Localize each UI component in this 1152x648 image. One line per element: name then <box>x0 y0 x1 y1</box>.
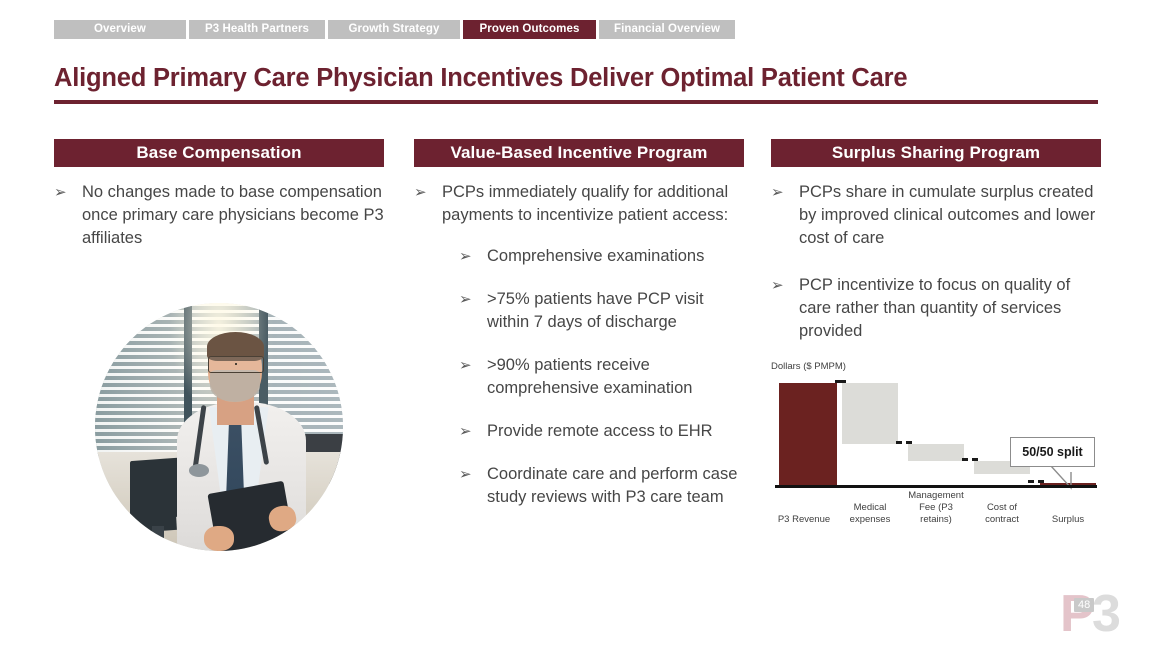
nav-tab-financial-overview[interactable]: Financial Overview <box>599 20 735 39</box>
chart-annotation-5050-split: 50/50 split <box>1010 437 1095 467</box>
list-item: ➢ No changes made to base compensation o… <box>54 181 384 250</box>
panel-header-base-compensation: Base Compensation <box>54 139 384 167</box>
panel-header-value-based-incentive-program: Value-Based Incentive Program <box>414 139 744 167</box>
bullet-text: Coordinate care and perform case study r… <box>487 463 744 509</box>
bullet-list-surplus: ➢ PCPs share in cumulate surplus created… <box>771 181 1101 343</box>
chart-x-tick-label: P3 Revenue <box>771 514 837 526</box>
chart-x-tick-label: Medical expenses <box>837 502 903 526</box>
panel-value-based-incentive-program: Value-Based Incentive Program ➢ PCPs imm… <box>414 139 744 529</box>
chart-connector-line <box>835 380 846 383</box>
list-item: ➢ >90% patients receive comprehensive ex… <box>459 354 744 400</box>
chart-bar-medical-expenses <box>842 383 898 444</box>
bullet-arrow-icon: ➢ <box>414 181 442 227</box>
chart-x-tick-label: Cost of contract <box>969 502 1035 526</box>
p3-logo: P 3 48 <box>1060 590 1136 638</box>
chart-bar-management-fee <box>908 444 964 461</box>
chart-y-axis-label: Dollars ($ PMPM) <box>771 361 1101 372</box>
bullet-text: PCP incentivize to focus on quality of c… <box>799 274 1101 343</box>
bullet-arrow-icon: ➢ <box>459 420 487 443</box>
nav-tab-overview[interactable]: Overview <box>54 20 186 39</box>
list-item: ➢ Comprehensive examinations <box>459 245 744 268</box>
page-number: 48 <box>1074 598 1094 612</box>
list-item: ➢ PCP incentivize to focus on quality of… <box>771 274 1101 343</box>
sub-bullet-list-vbip: ➢ Comprehensive examinations ➢ >75% pati… <box>459 245 744 509</box>
logo-numeral-3: 3 <box>1092 590 1121 638</box>
chart-x-tick-label: Management Fee (P3 retains) <box>903 490 969 526</box>
chart-plot-area: 50/50 split P3 Revenue Medical expenses … <box>771 378 1101 526</box>
chart-bar-p3-revenue <box>779 383 837 488</box>
stethoscope-bell <box>189 464 209 476</box>
chart-connector-line <box>896 441 912 444</box>
page-title: Aligned Primary Care Physician Incentive… <box>54 64 907 93</box>
bullet-arrow-icon: ➢ <box>459 288 487 334</box>
panel-surplus-sharing-program: Surplus Sharing Program ➢ PCPs share in … <box>771 139 1101 357</box>
bullet-text: No changes made to base compensation onc… <box>82 181 384 250</box>
title-underline-rule <box>54 100 1098 104</box>
photo-content <box>95 303 343 551</box>
bullet-text: >90% patients receive comprehensive exam… <box>487 354 744 400</box>
list-item: ➢ Coordinate care and perform case study… <box>459 463 744 509</box>
doctor-beard <box>210 370 260 402</box>
panel-base-compensation: Base Compensation ➢ No changes made to b… <box>54 139 384 264</box>
list-item: ➢ PCPs share in cumulate surplus created… <box>771 181 1101 250</box>
nav-tab-growth-strategy[interactable]: Growth Strategy <box>328 20 460 39</box>
panel-header-surplus-sharing-program: Surplus Sharing Program <box>771 139 1101 167</box>
bullet-arrow-icon: ➢ <box>459 463 487 509</box>
nav-tab-proven-outcomes[interactable]: Proven Outcomes <box>463 20 596 39</box>
list-item: ➢ Provide remote access to EHR <box>459 420 744 443</box>
bullet-text: >75% patients have PCP visit within 7 da… <box>487 288 744 334</box>
list-item: ➢ >75% patients have PCP visit within 7 … <box>459 288 744 334</box>
bullet-text: Provide remote access to EHR <box>487 420 744 443</box>
bullet-text: PCPs immediately qualify for additional … <box>442 181 744 227</box>
doctor-photo <box>95 303 343 551</box>
monitor-stand <box>152 526 164 543</box>
section-nav-tabs: Overview P3 Health Partners Growth Strat… <box>54 20 735 39</box>
bullet-arrow-icon: ➢ <box>54 181 82 250</box>
chart-connector-line <box>962 458 978 461</box>
bullet-text: PCPs share in cumulate surplus created b… <box>799 181 1101 250</box>
list-item: ➢ PCPs immediately qualify for additiona… <box>414 181 744 227</box>
bullet-list-vbip: ➢ PCPs immediately qualify for additiona… <box>414 181 744 227</box>
bullet-arrow-icon: ➢ <box>459 354 487 400</box>
chart-baseline-axis <box>775 485 1097 488</box>
nav-tab-p3-health-partners[interactable]: P3 Health Partners <box>189 20 325 39</box>
bullet-arrow-icon: ➢ <box>459 245 487 268</box>
bullet-text: Comprehensive examinations <box>487 245 744 268</box>
eyeglasses-icon <box>208 356 265 373</box>
bullet-arrow-icon: ➢ <box>771 274 799 343</box>
chart-connector-line <box>1028 480 1044 483</box>
bullet-list-base-compensation: ➢ No changes made to base compensation o… <box>54 181 384 250</box>
bullet-arrow-icon: ➢ <box>771 181 799 250</box>
waterfall-chart: Dollars ($ PMPM) 50/50 split P3 Revenue … <box>771 361 1101 526</box>
chart-x-tick-label: Surplus <box>1035 514 1101 526</box>
doctor-hand-left <box>204 526 234 551</box>
